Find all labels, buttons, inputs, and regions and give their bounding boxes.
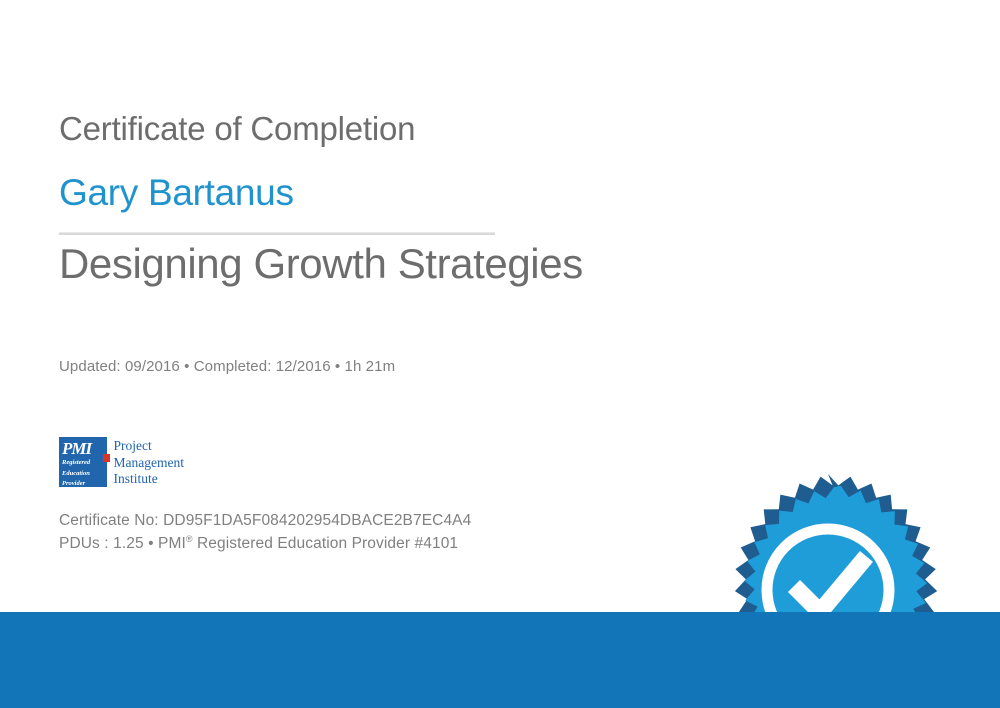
course-meta-line: Updated: 09/2016 • Completed: 12/2016 • … (59, 358, 395, 375)
certificate-canvas: Certificate of Completion Gary Bartanus … (0, 0, 1000, 708)
course-title: Designing Growth Strategies (59, 240, 583, 288)
pmi-sub-line-3: Provider (62, 480, 105, 489)
pmi-logo: PMI Registered Education Provider Projec… (59, 437, 184, 487)
pmi-red-accent (103, 454, 110, 462)
pdu-line-suffix: Registered Education Provider #4101 (193, 535, 459, 552)
pmi-wordmark: Project Management Institute (107, 437, 184, 487)
pmi-mark-box: PMI Registered Education Provider (59, 437, 107, 487)
recipient-name: Gary Bartanus (59, 172, 294, 215)
pmi-monogram: PMI (62, 440, 105, 457)
certificate-number: Certificate No: DD95F1DA5F084202954DBACE… (59, 512, 471, 530)
footer-bar: Lynda.com® FROM LINKEDIN (0, 612, 1000, 708)
pdu-line: PDUs : 1.25 • PMI® Registered Education … (59, 534, 458, 553)
pmi-word-line-2: Management (114, 455, 184, 472)
pmi-sub-line-1: Registered (62, 459, 105, 468)
title-divider (59, 232, 495, 235)
page-title: Certificate of Completion (59, 111, 415, 147)
pdu-line-prefix: PDUs : 1.25 • PMI (59, 535, 186, 552)
pmi-word-line-1: Project (114, 438, 184, 455)
pmi-sub-line-2: Education (62, 470, 105, 479)
registered-mark: ® (186, 534, 193, 544)
pmi-word-line-3: Institute (114, 471, 184, 488)
